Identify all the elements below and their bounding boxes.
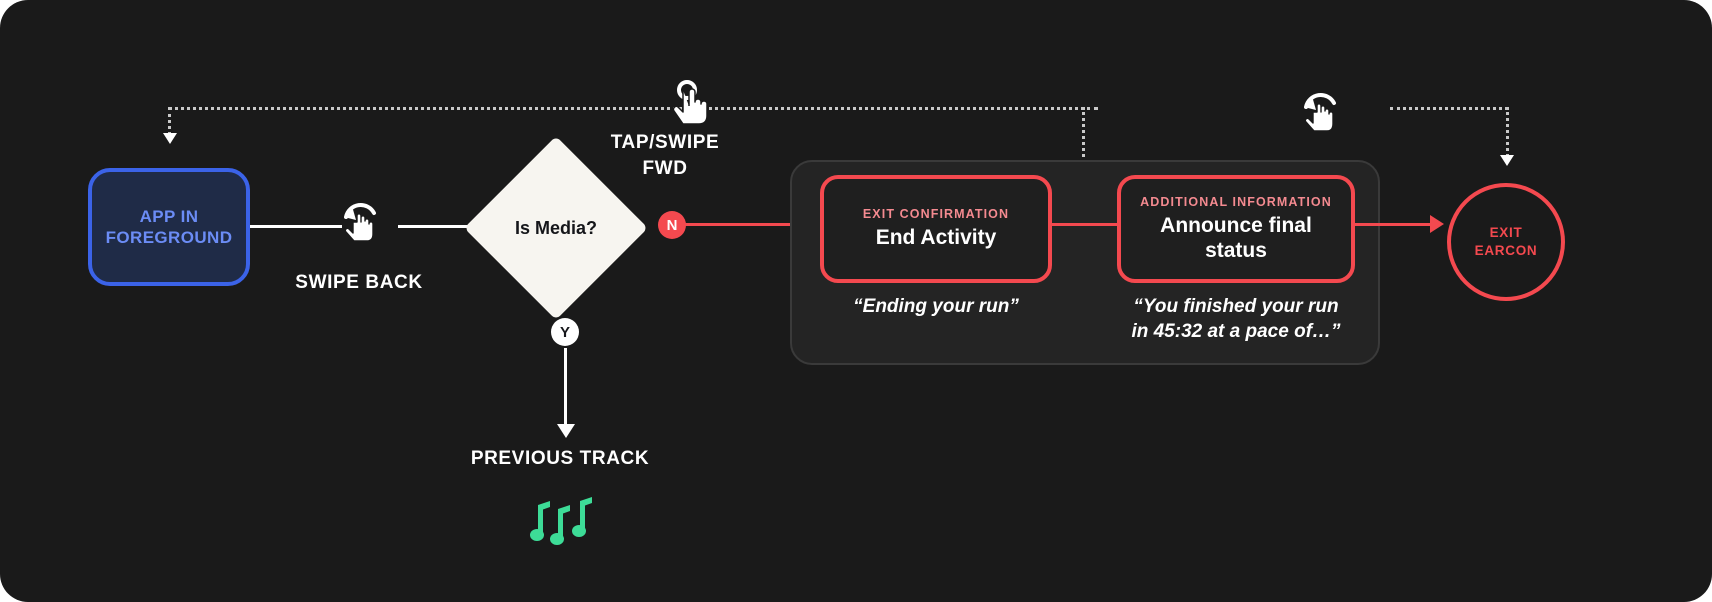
return-path-arrowhead-earcon <box>1500 155 1514 166</box>
card-additional-information-kicker: ADDITIONAL INFORMATION <box>1140 195 1332 209</box>
music-notes-icon <box>530 495 596 556</box>
exit-earcon-label: EXIT EARCON <box>1475 224 1538 259</box>
return-path-top-right <box>1390 107 1508 110</box>
caption-tap-swipe-line2: FWD <box>642 158 687 179</box>
quote-additional-information: “You finished your run in 45:32 at a pac… <box>1105 295 1367 344</box>
return-path-top-left <box>168 107 1098 110</box>
caption-previous-track: PREVIOUS TRACK <box>410 448 710 470</box>
exit-earcon-line2: EARCON <box>1475 243 1538 258</box>
caption-swipe-back: SWIPE BACK <box>245 272 473 294</box>
tap-gesture-icon <box>668 80 714 137</box>
edge-card2-to-earcon-arrowhead <box>1430 215 1444 233</box>
diagram-stage: APP IN FOREGROUND SWIPE BACK Is Media? N… <box>0 0 1712 602</box>
edge-card2-to-earcon <box>1351 223 1433 226</box>
card-additional-information[interactable]: ADDITIONAL INFORMATION Announce final st… <box>1117 175 1355 283</box>
decision-branch-yes-badge: Y <box>551 318 579 346</box>
quote2-line2: in 45:32 at a pace of…” <box>1131 321 1340 342</box>
decision-branch-no-badge: N <box>658 211 686 239</box>
edge-yes-arrowhead <box>557 424 575 438</box>
app-label-line2: FOREGROUND <box>106 228 233 247</box>
card-exit-confirmation-kicker: EXIT CONFIRMATION <box>863 207 1009 221</box>
quote2-line1: “You finished your run <box>1133 296 1338 317</box>
card2-title-line2: status <box>1205 239 1267 262</box>
app-label-line1: APP IN <box>140 207 199 226</box>
edge-yes-to-previous-track <box>564 348 567 428</box>
card2-title-line1: Announce final <box>1160 214 1312 237</box>
card-exit-confirmation-title: End Activity <box>876 225 997 250</box>
node-app-in-foreground[interactable]: APP IN FOREGROUND <box>88 168 250 286</box>
return-path-down-to-earcon <box>1506 107 1509 157</box>
return-path-arrowhead-app <box>163 133 177 144</box>
swipe-back-gesture-icon-return <box>1300 90 1342 139</box>
quote-exit-confirmation: “Ending your run” <box>810 295 1062 320</box>
edge-card1-to-card2 <box>1048 223 1121 226</box>
swipe-back-gesture-icon <box>340 200 382 249</box>
caption-tap-swipe-fwd: TAP/SWIPE FWD <box>580 130 750 181</box>
card-exit-confirmation[interactable]: EXIT CONFIRMATION End Activity <box>820 175 1052 283</box>
node-exit-earcon[interactable]: EXIT EARCON <box>1447 183 1565 301</box>
caption-tap-swipe-line1: TAP/SWIPE <box>611 132 720 153</box>
return-path-down-to-app <box>168 107 171 135</box>
edge-app-to-decision-seg1 <box>250 225 342 228</box>
return-path-up-from-group <box>1082 107 1085 157</box>
app-in-foreground-label: APP IN FOREGROUND <box>106 206 233 249</box>
card-additional-information-title: Announce final status <box>1160 213 1312 263</box>
diagram-canvas: APP IN FOREGROUND SWIPE BACK Is Media? N… <box>0 0 1712 602</box>
exit-earcon-line1: EXIT <box>1490 225 1523 240</box>
